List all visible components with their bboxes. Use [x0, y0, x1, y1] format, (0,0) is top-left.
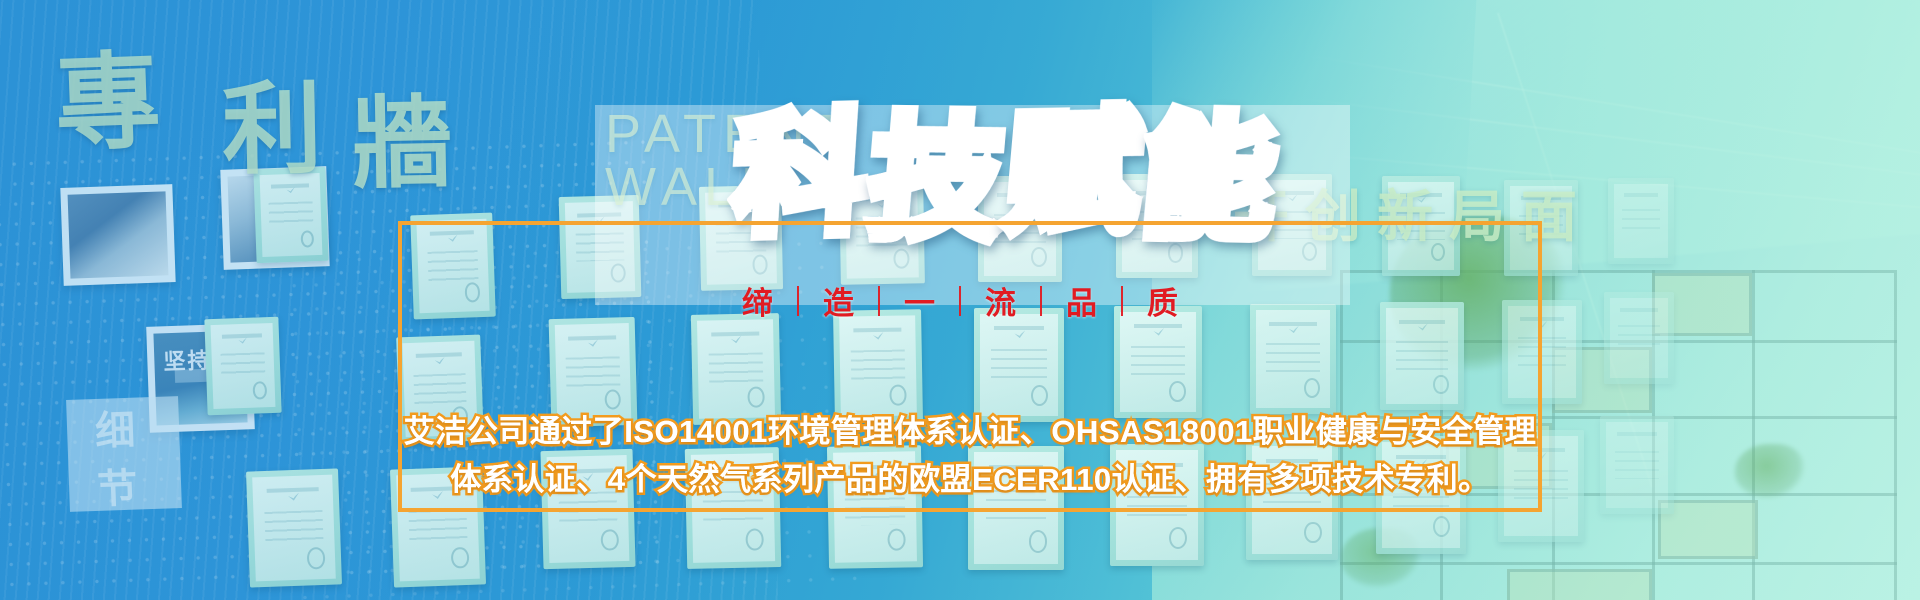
- certificate-seal: [1169, 381, 1186, 402]
- certificate-paper: [1508, 306, 1576, 398]
- certificate-seal: [746, 529, 764, 551]
- slogan-word: 质: [1123, 278, 1202, 323]
- body-paragraph-outline: 艾洁公司通过了ISO14001环境管理体系认证、OHSAS18001职业健康与安…: [398, 408, 1542, 504]
- certificate: [1604, 292, 1674, 384]
- certificate-logo: [873, 332, 884, 340]
- wall-word-zhuan: 專: [52, 16, 162, 172]
- certificate-logo: [588, 339, 599, 347]
- certificate-logo: [1538, 321, 1548, 328]
- slogan-word: 品: [1042, 278, 1121, 323]
- title-glyph-ke: 科: [731, 108, 876, 243]
- certificate: [1600, 416, 1674, 514]
- certificate-logo: [288, 492, 299, 500]
- wall-word-li: 利: [221, 47, 324, 194]
- certificate-logo: [435, 357, 445, 365]
- certificate-seal: [1304, 378, 1320, 398]
- certificate-logo: [1418, 323, 1428, 330]
- certificate-seal: [888, 528, 906, 550]
- certificate-logo: [731, 336, 742, 344]
- certificate-logo: [448, 235, 458, 242]
- certificate: [410, 213, 496, 320]
- certificate-logo: [1289, 326, 1299, 333]
- slogan-separator: [878, 286, 880, 316]
- certificate-seal: [1304, 522, 1322, 544]
- certificate-paper: [980, 314, 1058, 416]
- certificate-seal: [601, 529, 619, 551]
- detail-word: 细节: [94, 397, 154, 515]
- certificate-paper: [1606, 422, 1668, 508]
- certificate-seal: [307, 547, 325, 569]
- certificate-logo: [1153, 328, 1164, 336]
- title-glyph-neng: 能: [1137, 112, 1285, 247]
- wall-photo-frame: [60, 184, 175, 286]
- certificate-paper: [697, 319, 775, 419]
- certificate: [1608, 178, 1674, 264]
- certificate-seal: [605, 389, 622, 410]
- main-title: 科技赋能: [735, 110, 1279, 242]
- certificate: [974, 308, 1064, 422]
- certificate-paper: [1256, 310, 1330, 408]
- certificate: [204, 317, 281, 416]
- certificate-paper: [252, 475, 336, 582]
- slogan-separator: [1121, 286, 1123, 316]
- certificate: [1250, 304, 1336, 414]
- grid-cell: [1340, 562, 1897, 565]
- body-line-2: 体系认证、4个天然气系列产品的欧盟ECER110认证、拥有多项技术专利。: [398, 456, 1542, 504]
- certificate: [1380, 302, 1464, 410]
- certificate-paper: [839, 315, 917, 416]
- certificate-seal: [1433, 516, 1450, 537]
- title-glyph-fu: 赋: [1001, 107, 1149, 241]
- certificate-seal: [451, 547, 469, 569]
- slogan-word: 一: [880, 278, 959, 323]
- certificate-logo: [1014, 330, 1025, 338]
- certificate-seal: [464, 283, 480, 303]
- photo-image: [68, 191, 169, 278]
- certificate: [246, 468, 342, 587]
- certificate-seal: [1433, 375, 1449, 395]
- certificate: [833, 309, 923, 423]
- certificate-paper: [211, 323, 276, 409]
- slogan-word: 缔: [718, 278, 797, 323]
- certificate-paper: [1610, 298, 1668, 378]
- title-glyph-ji: 技: [865, 113, 1012, 247]
- certificate: [1502, 300, 1582, 404]
- certificate-paper: [555, 323, 631, 421]
- certificate-seal: [1031, 385, 1048, 406]
- slogan-word: 流: [961, 278, 1040, 323]
- slogan-separator: [959, 286, 961, 316]
- certificate-logo: [238, 337, 247, 343]
- detail-panel: 细节: [66, 396, 182, 512]
- patent-wall-banner: 坚持 细节: [0, 0, 1920, 600]
- certificate-seal: [748, 387, 765, 408]
- slogan-separator: [797, 286, 799, 316]
- certificate-seal: [1029, 530, 1047, 552]
- slogan-word: 造: [799, 278, 878, 323]
- certificate-seal: [890, 385, 907, 406]
- certificate-seal: [253, 381, 267, 399]
- certificate-paper: [416, 219, 489, 313]
- slogan-row: 缔 造 一 流 品 质: [718, 278, 1202, 323]
- certificate-paper: [1614, 184, 1668, 258]
- shelf-box: [1507, 569, 1652, 600]
- certificate-paper: [1120, 312, 1196, 412]
- slogan-separator: [1040, 286, 1042, 316]
- certificate-paper: [1386, 308, 1458, 404]
- certificate-seal: [301, 230, 315, 248]
- body-line-1: 艾洁公司通过了ISO14001环境管理体系认证、OHSAS18001职业健康与安…: [398, 408, 1542, 456]
- certificate-seal: [1169, 527, 1187, 549]
- wall-word-qiang: 牆: [351, 61, 454, 208]
